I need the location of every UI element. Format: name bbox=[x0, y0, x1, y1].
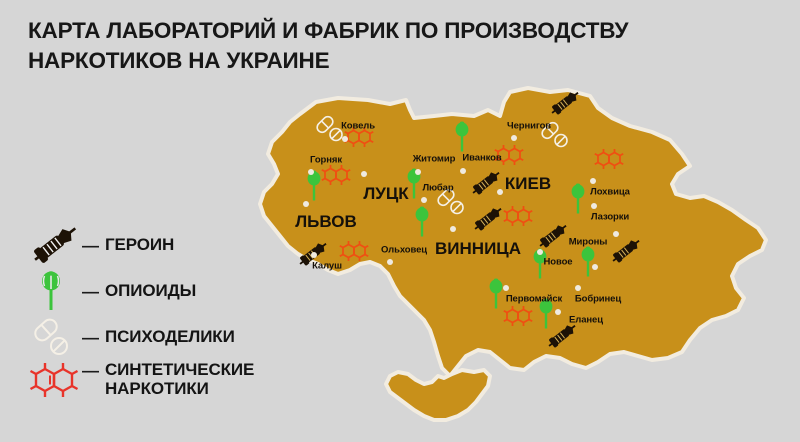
major-city-label: ЛЬВОВ bbox=[295, 212, 357, 232]
poppy-icon bbox=[26, 268, 82, 314]
city-label: Ковель bbox=[341, 121, 375, 132]
legend-item-psychedelics: — ПСИХОДЕЛИКИ bbox=[26, 314, 266, 360]
city-dot bbox=[450, 226, 456, 232]
ukraine-map: КовельГорнякЖитомирИванковЧерниговЛюбарЛ… bbox=[238, 74, 794, 442]
city-dot bbox=[503, 285, 509, 291]
city-label: Еланец bbox=[569, 315, 603, 326]
city-label: Ольховец bbox=[381, 245, 427, 256]
page-title: КАРТА ЛАБОРАТОРИЙ И ФАБРИК ПО ПРОИЗВОДСТ… bbox=[28, 16, 668, 75]
major-city-label: ВИННИЦА bbox=[435, 239, 521, 259]
poppy-icon bbox=[413, 206, 431, 243]
city-label: Любар bbox=[422, 183, 453, 194]
city-dot bbox=[311, 252, 317, 258]
legend-label-psychedelics: ПСИХОДЕЛИКИ bbox=[105, 327, 235, 346]
city-dot bbox=[555, 309, 561, 315]
syringe-icon bbox=[548, 92, 582, 121]
syringe-icon bbox=[26, 222, 82, 268]
city-dot bbox=[308, 169, 314, 175]
legend-dash: — bbox=[82, 237, 99, 254]
legend-dash: — bbox=[82, 362, 99, 379]
city-dot bbox=[592, 264, 598, 270]
city-label: Новое bbox=[544, 257, 573, 268]
syringe-icon bbox=[545, 325, 579, 354]
city-dot bbox=[421, 197, 427, 203]
poppy-icon bbox=[569, 183, 587, 220]
city-label: Лохвица bbox=[590, 187, 630, 198]
city-label: Горняк bbox=[310, 155, 342, 166]
legend-label-opioids: ОПИОИДЫ bbox=[105, 281, 196, 300]
city-label: Калуш bbox=[312, 261, 342, 272]
legend-label-heroin: ГЕРОИН bbox=[105, 235, 174, 254]
molecule-icon bbox=[593, 148, 627, 177]
city-dot bbox=[361, 171, 367, 177]
syringe-icon bbox=[469, 172, 503, 201]
city-dot bbox=[342, 136, 348, 142]
legend: — ГЕРОИН — ОПИОИДЫ bbox=[26, 222, 266, 416]
city-label: Лазорки bbox=[591, 212, 629, 223]
city-dot bbox=[511, 135, 517, 141]
city-dot bbox=[613, 231, 619, 237]
major-city-label: ЛУЦК bbox=[363, 184, 408, 204]
infographic-root: КАРТА ЛАБОРАТОРИЙ И ФАБРИК ПО ПРОИЗВОДСТ… bbox=[0, 0, 800, 442]
city-label: Первомайск bbox=[506, 294, 562, 305]
syringe-icon bbox=[609, 240, 643, 269]
city-dot bbox=[537, 249, 543, 255]
city-label: Иванков bbox=[462, 153, 501, 164]
city-dot bbox=[460, 168, 466, 174]
city-label: Житомир bbox=[413, 154, 456, 165]
city-dot bbox=[497, 189, 503, 195]
major-city-label: КИЕВ bbox=[505, 174, 551, 194]
molecule-icon bbox=[26, 362, 82, 408]
city-dot bbox=[415, 169, 421, 175]
legend-dash: — bbox=[82, 329, 99, 346]
city-dot bbox=[591, 203, 597, 209]
legend-item-opioids: — ОПИОИДЫ bbox=[26, 268, 266, 314]
crimea-outline bbox=[386, 370, 490, 420]
molecule-icon bbox=[502, 205, 536, 234]
legend-label-synthetic: СИНТЕТИЧЕСКИЕ НАРКОТИКИ bbox=[105, 360, 254, 398]
city-label: Бобринец bbox=[575, 294, 621, 305]
city-dot bbox=[575, 285, 581, 291]
city-dot bbox=[590, 178, 596, 184]
syringe-icon bbox=[471, 208, 505, 237]
molecule-icon bbox=[338, 240, 372, 269]
city-label: Мироны bbox=[569, 237, 608, 248]
legend-item-heroin: — ГЕРОИН bbox=[26, 222, 266, 268]
city-dot bbox=[303, 201, 309, 207]
molecule-icon bbox=[320, 164, 354, 193]
legend-dash: — bbox=[82, 283, 99, 300]
city-dot bbox=[387, 259, 393, 265]
molecule-icon bbox=[502, 305, 536, 334]
legend-item-synthetic: — СИНТЕТИЧЕСКИЕ НАРКОТИКИ bbox=[26, 360, 266, 416]
city-label: Чернигов bbox=[507, 121, 551, 132]
capsule-icon bbox=[26, 314, 82, 360]
